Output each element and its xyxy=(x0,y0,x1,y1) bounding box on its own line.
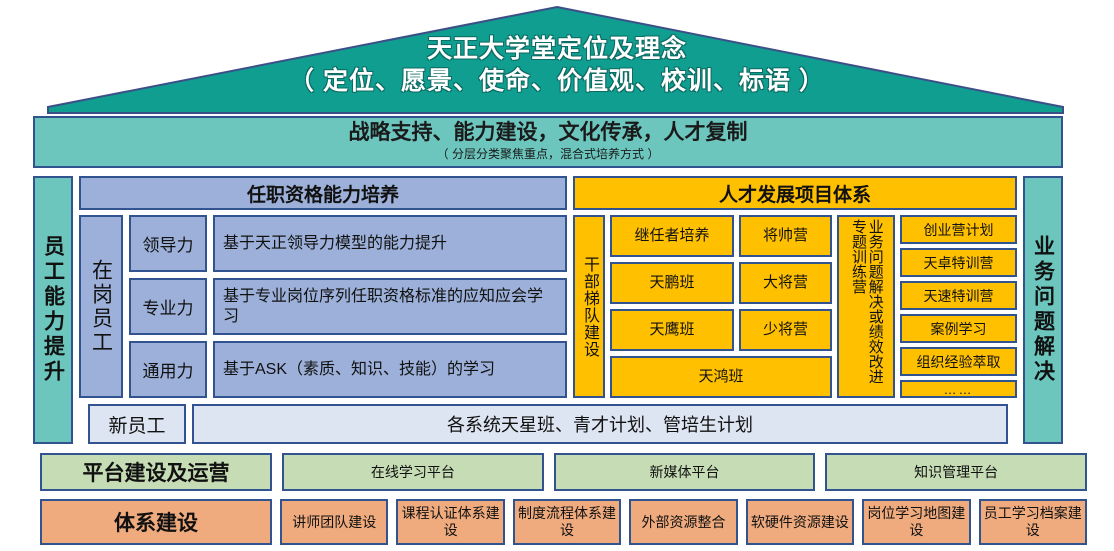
capability-tag: 通用力 xyxy=(129,341,207,398)
talent-body: 干部梯队建设 继任者培养 将帅营 天鹏班 大将营 天鹰班 xyxy=(573,215,1017,398)
list-item: 案例学习 xyxy=(900,314,1017,343)
list-item: 天卓特训营 xyxy=(900,248,1017,277)
business-problem-training-label: 业务问题解决或绩效改进专题训练营 xyxy=(849,219,883,395)
banner-line1: 战略支持、能力建设，文化传承，人才复制 xyxy=(349,121,748,145)
capability-tag: 领导力 xyxy=(129,215,207,272)
talent-title: 人才发展项目体系 xyxy=(573,176,1017,210)
ladder-cell: 继任者培养 xyxy=(610,215,734,257)
table-row: 天鹏班 大将营 xyxy=(610,262,832,304)
new-employee-row: 新员工 各系统天星班、青才计划、管培生计划 xyxy=(88,404,1008,444)
platform-row: 平台建设及运营 在线学习平台 新媒体平台 知识管理平台 xyxy=(40,453,1087,491)
qualification-body: 在岗员工 领导力 基于天正领导力模型的能力提升 专业力 基于专业岗位序列任职资格… xyxy=(79,215,567,398)
onjob-employee-label-cell: 在岗员工 xyxy=(79,215,123,398)
system-item: 讲师团队建设 xyxy=(280,499,388,545)
platform-item: 知识管理平台 xyxy=(825,453,1087,491)
framework-diagram: 天正大学堂定位及理念 （ 定位、愿景、使命、价值观、校训、标语 ） 战略支持、能… xyxy=(0,0,1114,551)
ladder-cell: 少将营 xyxy=(739,309,832,351)
system-item: 岗位学习地图建设 xyxy=(862,499,970,545)
table-row: 天鹰班 少将营 xyxy=(610,309,832,351)
right-column-business-problem: 业务问题解决 xyxy=(1023,176,1063,444)
list-item: 创业营计划 xyxy=(900,215,1017,244)
camp-list: 创业营计划 天卓特训营 天速特训营 案例学习 组织经验萃取 …… xyxy=(900,215,1017,398)
roof-shape: 天正大学堂定位及理念 （ 定位、愿景、使命、价值观、校训、标语 ） xyxy=(0,0,1114,118)
right-column-label: 业务问题解决 xyxy=(1033,235,1054,385)
strategy-banner: 战略支持、能力建设，文化传承，人才复制 （ 分层分类聚焦重点，混合式培养方式 ） xyxy=(33,116,1063,168)
platform-item: 在线学习平台 xyxy=(282,453,544,491)
system-title: 体系建设 xyxy=(40,499,272,545)
list-item: 组织经验萃取 xyxy=(900,347,1017,376)
table-row: 专业力 基于专业岗位序列任职资格标准的应知应会学习 xyxy=(129,278,567,335)
system-item: 制度流程体系建设 xyxy=(513,499,621,545)
system-item: 外部资源整合 xyxy=(629,499,737,545)
ladder-grid: 继任者培养 将帅营 天鹏班 大将营 天鹰班 少将营 天鸿班 xyxy=(610,215,832,398)
system-item: 课程认证体系建设 xyxy=(396,499,504,545)
ladder-cell: 天鹰班 xyxy=(610,309,734,351)
table-row: 通用力 基于ASK（素质、知识、技能）的学习 xyxy=(129,341,567,398)
left-column-label: 员工能力提升 xyxy=(43,235,64,385)
system-item: 员工学习档案建设 xyxy=(979,499,1087,545)
qualification-rows: 领导力 基于天正领导力模型的能力提升 专业力 基于专业岗位序列任职资格标准的应知… xyxy=(129,215,567,398)
capability-desc: 基于专业岗位序列任职资格标准的应知应会学习 xyxy=(213,278,567,335)
new-employee-desc: 各系统天星班、青才计划、管培生计划 xyxy=(192,404,1008,444)
capability-desc: 基于ASK（素质、知识、技能）的学习 xyxy=(213,341,567,398)
ladder-cell-full: 天鸿班 xyxy=(610,356,832,398)
ladder-cell: 大将营 xyxy=(739,262,832,304)
ladder-cell: 天鹏班 xyxy=(610,262,734,304)
system-row: 体系建设 讲师团队建设 课程认证体系建设 制度流程体系建设 外部资源整合 软硬件… xyxy=(40,499,1087,545)
cadre-echelon-label: 干部梯队建设 xyxy=(581,256,597,358)
list-item-more: …… xyxy=(900,380,1017,398)
table-row: 领导力 基于天正领导力模型的能力提升 xyxy=(129,215,567,272)
system-item: 软硬件资源建设 xyxy=(746,499,854,545)
left-column-employee-capability: 员工能力提升 xyxy=(33,176,73,444)
onjob-employee-label: 在岗员工 xyxy=(91,259,112,355)
ladder-cell: 将帅营 xyxy=(739,215,832,257)
list-item: 天速特训营 xyxy=(900,281,1017,310)
business-problem-training-label-cell: 业务问题解决或绩效改进专题训练营 xyxy=(837,215,895,398)
capability-tag: 专业力 xyxy=(129,278,207,335)
qualification-title: 任职资格能力培养 xyxy=(79,176,567,210)
banner-line2: （ 分层分类聚焦重点，混合式培养方式 ） xyxy=(437,147,660,163)
table-row: 天鸿班 xyxy=(610,356,832,398)
capability-desc: 基于天正领导力模型的能力提升 xyxy=(213,215,567,272)
platform-title: 平台建设及运营 xyxy=(40,453,272,491)
new-employee-tag: 新员工 xyxy=(88,404,186,444)
roof-polygon xyxy=(48,7,1063,113)
platform-item: 新媒体平台 xyxy=(554,453,816,491)
table-row: 继任者培养 将帅营 xyxy=(610,215,832,257)
cadre-echelon-label-cell: 干部梯队建设 xyxy=(573,215,605,398)
